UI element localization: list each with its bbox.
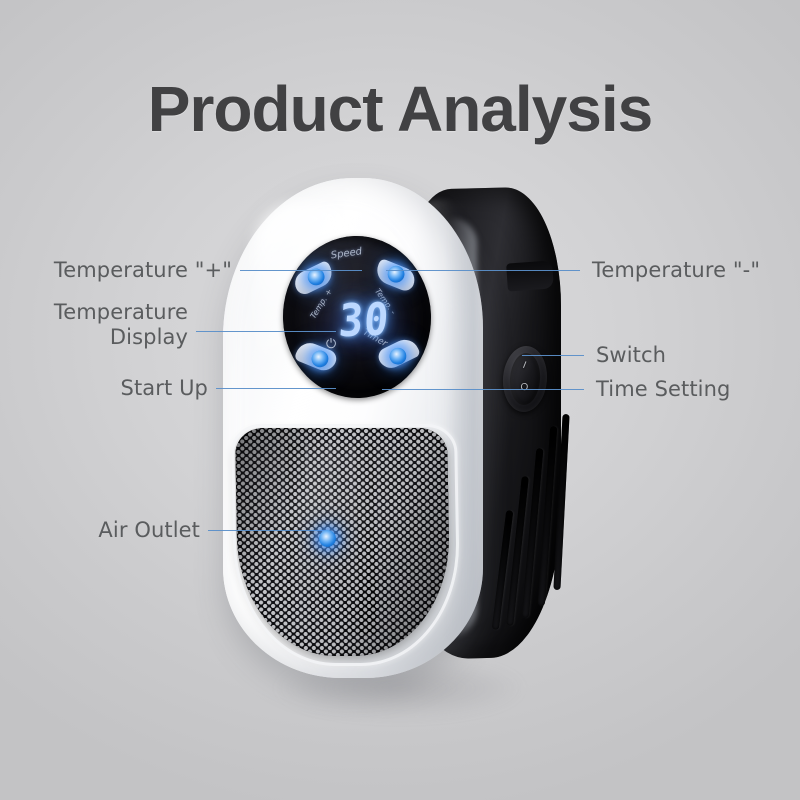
side-vent-group [497, 414, 571, 650]
grille-shading [235, 428, 451, 656]
body-edge-shade [447, 218, 477, 638]
switch-off-marking: O [520, 382, 529, 394]
leader-line-air-outlet [208, 530, 328, 531]
side-panel-notch [506, 260, 554, 291]
callout-time-setting: Time Setting [596, 377, 800, 402]
page-title: Product Analysis [0, 72, 800, 146]
callout-start-up: Start Up [10, 376, 208, 401]
callout-temperature-minus: Temperature "-" [592, 258, 800, 283]
leader-line-temperature-plus [240, 270, 362, 271]
callout-air-outlet: Air Outlet [10, 518, 200, 543]
leader-line-time-setting [382, 389, 584, 390]
leader-line-temperature-display [196, 331, 336, 332]
callout-temperature-plus: Temperature "+" [10, 258, 232, 283]
callout-switch: Switch [596, 343, 796, 368]
leader-line-switch [522, 355, 584, 356]
product-image: Speed Temp. + Temp. - Timer ⏻ 30 I O [215, 178, 595, 728]
air-outlet-grille [235, 428, 451, 656]
leader-line-temperature-minus [386, 270, 580, 271]
temperature-display: 30 [325, 294, 403, 348]
callout-temperature-display: Temperature Display [10, 300, 188, 350]
infographic-canvas: Product Analysis [0, 0, 800, 800]
air-outlet-marker-dot [319, 530, 336, 547]
leader-line-start-up [216, 388, 336, 389]
